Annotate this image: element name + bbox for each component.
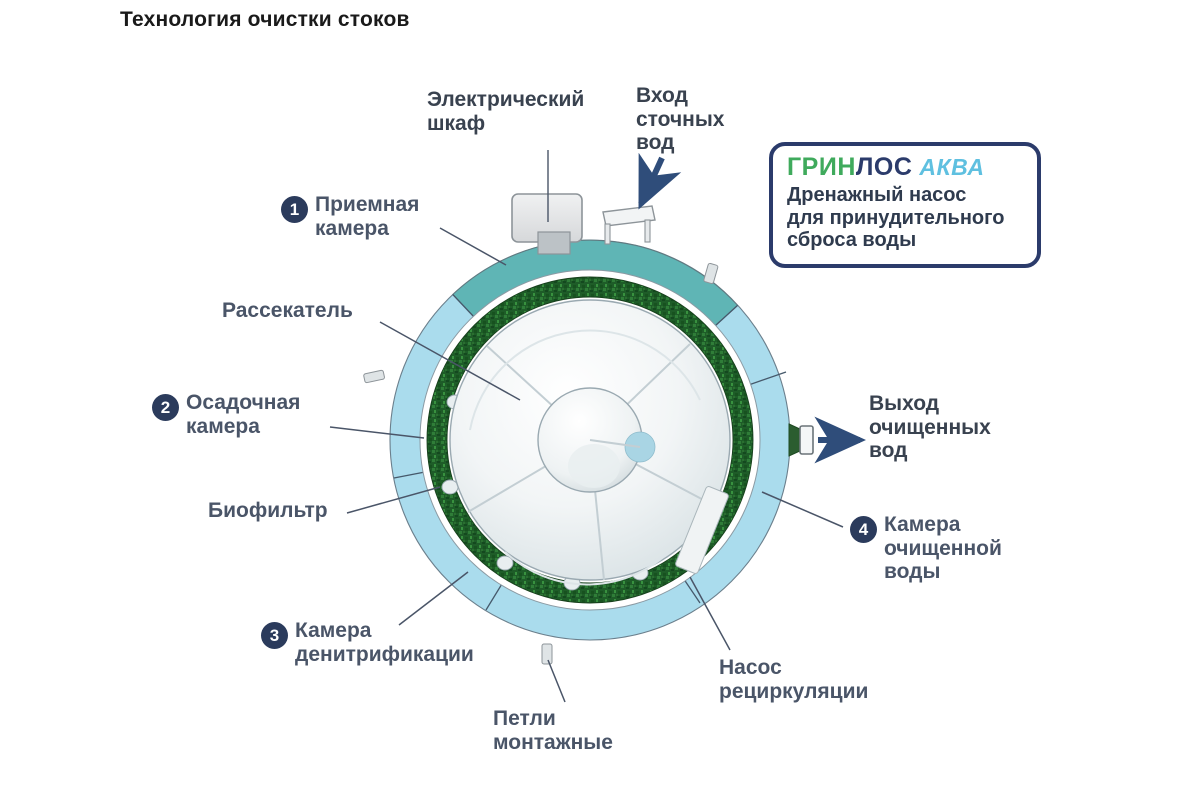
brand-logo-box: ГРИНЛОСАКВА Дренажный насос для принудит… <box>769 142 1041 268</box>
inlet-pipe-graphic <box>603 206 655 244</box>
brand-description: Дренажный насос для принудительного сбро… <box>787 184 1023 252</box>
numbered-callout-label-2: Осадочная камера <box>186 391 300 438</box>
brand-title: ГРИНЛОСАКВА <box>787 153 1023 182</box>
callout-biofilter: Биофильтр <box>208 499 328 523</box>
numbered-callout-denitrification-chamber: 3 Камера денитрификации <box>261 619 474 666</box>
numbered-callout-receiving-chamber: 1 Приемная камера <box>281 193 419 240</box>
callout-treated-water-outlet: Выход очищенных вод <box>869 392 991 463</box>
badge-4: 4 <box>850 516 877 543</box>
brand-part-los: ЛОС <box>856 153 913 181</box>
leader-mounting-loops <box>548 660 565 702</box>
badge-1: 1 <box>281 196 308 223</box>
callout-electrical-cabinet: Электрический шкаф <box>427 88 584 135</box>
wastewater-inlet-arrow <box>641 158 662 204</box>
brand-part-grin: ГРИН <box>787 153 856 181</box>
electrical-cabinet-graphic <box>512 150 582 254</box>
numbered-callout-sedimentation-chamber: 2 Осадочная камера <box>152 391 300 438</box>
brand-part-akva: АКВА <box>919 154 984 180</box>
badge-2: 2 <box>152 394 179 421</box>
leader-denitrification <box>399 572 468 625</box>
badge-3: 3 <box>261 622 288 649</box>
callout-recirculation-pump: Насос рециркуляции <box>719 656 868 703</box>
numbered-callout-label-3: Камера денитрификации <box>295 619 474 666</box>
treatment-plant-diagram: Электрический шкаф Вход сточных вод Расс… <box>0 0 1200 800</box>
numbered-callout-label-1: Приемная камера <box>315 193 419 240</box>
numbered-callout-label-4: Камера очищенной воды <box>884 513 1002 584</box>
numbered-callout-clean-water-chamber: 4 Камера очищенной воды <box>850 513 1002 584</box>
treated-water-outlet-graphic <box>789 424 813 456</box>
callout-wastewater-inlet: Вход сточных вод <box>636 84 724 155</box>
callout-distributor: Рассекатель <box>222 299 353 323</box>
callout-mounting-loops: Петли монтажные <box>493 707 613 754</box>
leader-receiving-chamber <box>440 228 506 265</box>
